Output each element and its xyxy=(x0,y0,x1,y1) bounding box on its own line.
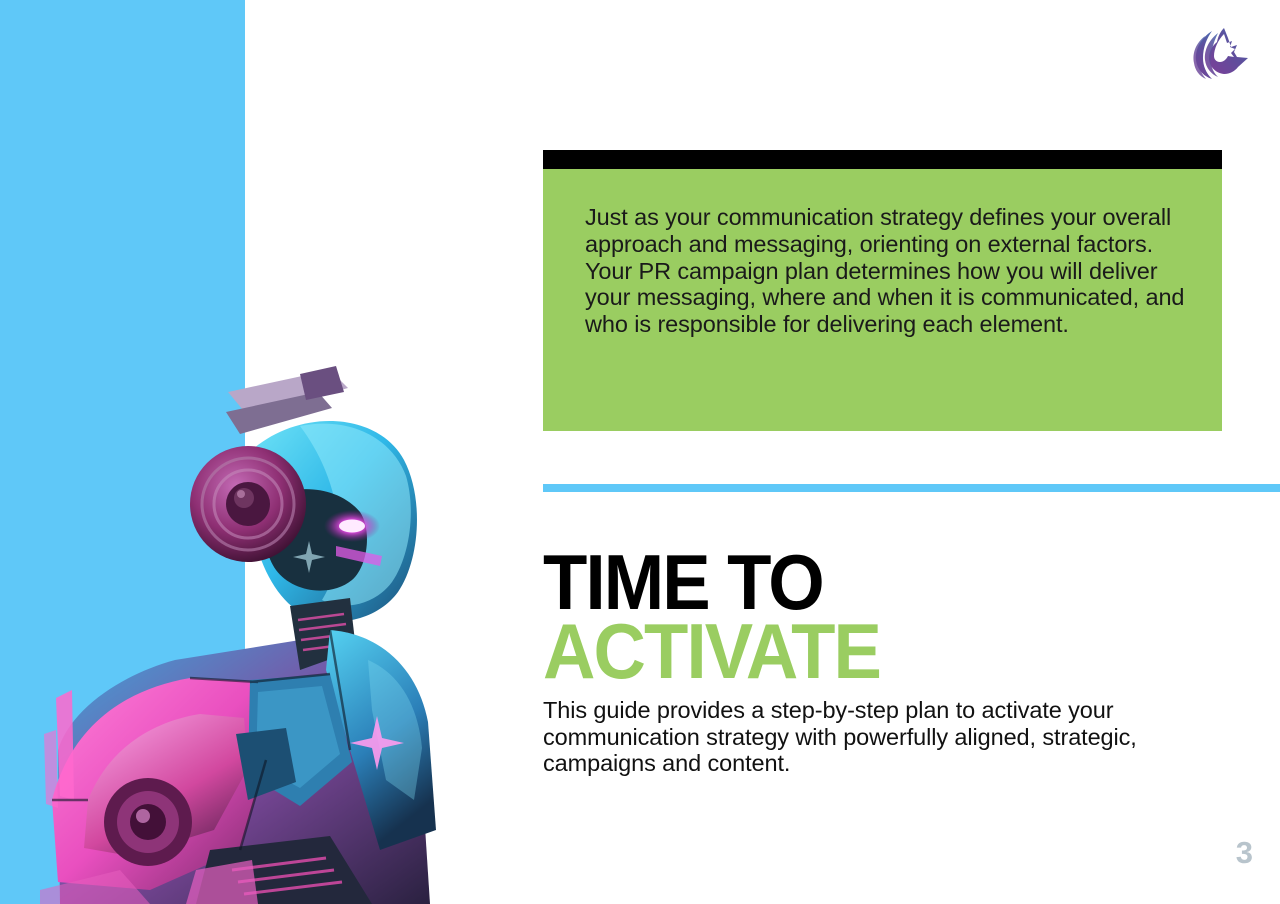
section-divider-rule xyxy=(543,484,1280,492)
callout-paragraph: Just as your communication strategy defi… xyxy=(585,204,1193,338)
page-title: TIME TO ACTIVATE xyxy=(543,548,1243,685)
wolf-head-logo xyxy=(1190,22,1252,82)
slide-page: Just as your communication strategy defi… xyxy=(0,0,1280,904)
callout-top-bar xyxy=(543,150,1222,169)
page-number: 3 xyxy=(1236,835,1253,871)
page-title-line-2: ACTIVATE xyxy=(543,617,1194,686)
callout-box: Just as your communication strategy defi… xyxy=(543,169,1222,431)
wolf-head-icon xyxy=(1190,22,1252,82)
robot-illustration xyxy=(0,330,500,904)
robot-artwork xyxy=(0,330,500,904)
subtitle-paragraph: This guide provides a step-by-step plan … xyxy=(543,697,1163,777)
